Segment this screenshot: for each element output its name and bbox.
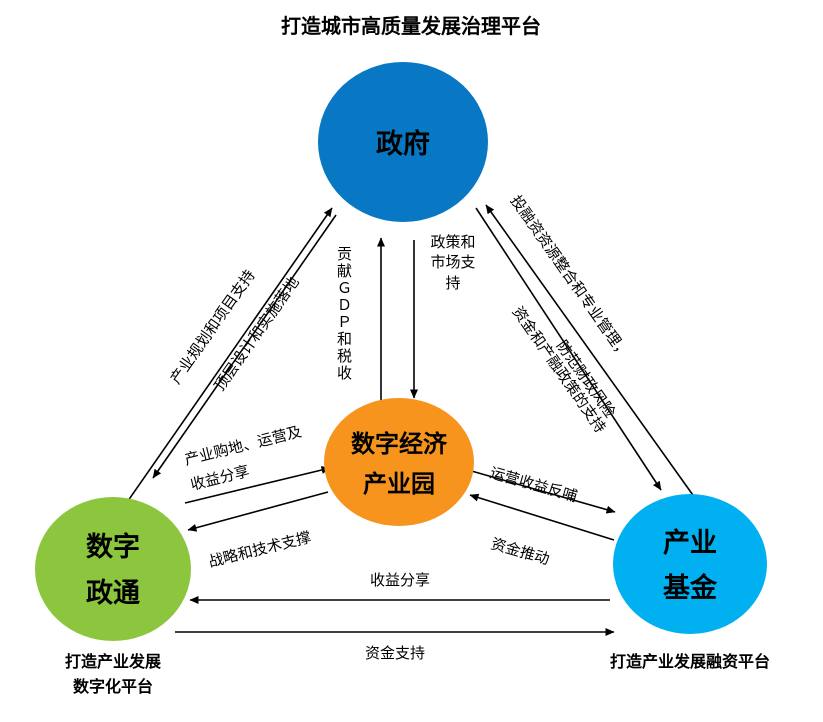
edge-label-government-to-digital: 顶层设计和实施落地 — [211, 273, 303, 394]
digital-label-line1: 数字 — [86, 531, 140, 563]
park-circle[interactable] — [324, 398, 474, 526]
fund-label-line1: 产业 — [663, 528, 717, 559]
digital-caption-line1: 打造产业发展 — [65, 652, 162, 671]
edge-label-park-to-government: 贡献ＧＤＰ和税收 — [335, 246, 353, 382]
edge-line-fund-to-government — [486, 205, 700, 505]
digital-label-line2: 政通 — [86, 578, 140, 609]
node-park[interactable]: 数字经济 产业园 — [324, 398, 474, 526]
fund-label-line2: 基金 — [663, 572, 718, 604]
park-label-line2: 产业园 — [363, 470, 435, 498]
edge-label-fund-to-park: 资金推动 — [489, 535, 552, 569]
government-label: 政府 — [376, 128, 430, 160]
edge-label-digital-to-fund: 资金支持 — [365, 644, 425, 662]
page-title: 打造城市高质量发展治理平台 — [281, 14, 541, 38]
edge-label-park-to-fund: 运营收益反哺 — [488, 464, 579, 506]
edge-label-fund-to-digital: 收益分享 — [370, 571, 430, 589]
edge-line-digital-to-government — [123, 208, 332, 508]
edge-label-park-to-digital: 战略和技术支撑 — [207, 528, 313, 571]
node-government[interactable]: 政府 — [318, 62, 488, 222]
park-label-line1: 数字经济 — [351, 430, 448, 458]
edge-label-digital-to-government: 产业规划和项目支持 — [167, 266, 259, 387]
digital-circle[interactable] — [35, 497, 191, 641]
edge-line-fund-to-park — [470, 495, 614, 540]
diagram-canvas: 打造城市高质量发展治理平台 政府 — [0, 0, 823, 722]
relationship-diagram: 打造城市高质量发展治理平台 政府 — [0, 0, 823, 722]
fund-caption: 打造产业发展融资平台 — [610, 652, 770, 671]
edge-label-government-to-park: 政策和市场支持 — [430, 232, 476, 293]
edge-label-government-to-park-box: 政策和市场支持 — [430, 232, 476, 372]
node-digital[interactable]: 数字 政通 打造产业发展 数字化平台 — [35, 497, 191, 696]
node-fund[interactable]: 产业 基金 打造产业发展融资平台 — [610, 494, 770, 671]
fund-circle[interactable] — [613, 494, 767, 634]
digital-caption-line2: 数字化平台 — [73, 677, 153, 696]
